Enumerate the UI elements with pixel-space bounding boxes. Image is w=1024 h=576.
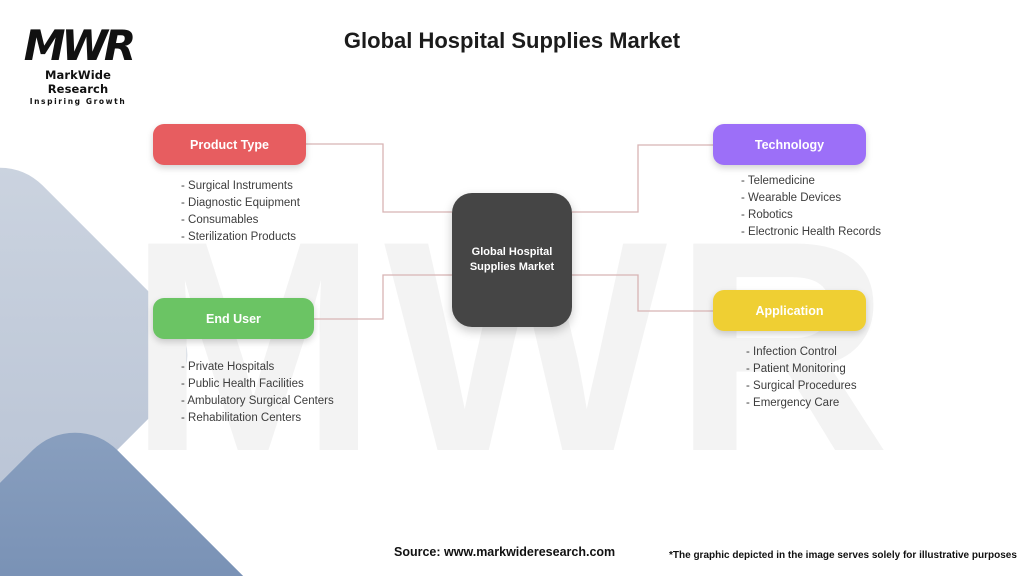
list-end-user: - Private Hospitals - Public Health Faci… [181, 359, 334, 427]
list-item: - Telemedicine [741, 173, 881, 190]
list-item: - Infection Control [746, 344, 857, 361]
list-item: - Private Hospitals [181, 359, 334, 376]
infographic-canvas: MWR MWR MarkWide Research Inspiring Grow… [0, 0, 1024, 576]
logo-company-name: MarkWide Research [18, 68, 138, 96]
list-technology: - Telemedicine - Wearable Devices - Robo… [741, 173, 881, 241]
connector-application [572, 275, 713, 311]
list-item: - Robotics [741, 207, 881, 224]
node-end-user[interactable]: End User [153, 298, 314, 339]
node-technology-label: Technology [755, 138, 824, 152]
node-product-type[interactable]: Product Type [153, 124, 306, 165]
center-node-line1: Global Hospital [472, 246, 553, 258]
list-item: - Rehabilitation Centers [181, 410, 334, 427]
connector-end-user [314, 275, 452, 319]
center-node[interactable]: Global Hospital Supplies Market [452, 193, 572, 327]
list-item: - Public Health Facilities [181, 376, 334, 393]
list-item: - Ambulatory Surgical Centers [181, 393, 334, 410]
logo-tagline: Inspiring Growth [18, 97, 138, 106]
node-technology[interactable]: Technology [713, 124, 866, 165]
node-application[interactable]: Application [713, 290, 866, 331]
node-end-user-label: End User [206, 312, 261, 326]
connector-product-type [306, 144, 452, 212]
list-product-type: - Surgical Instruments - Diagnostic Equi… [181, 178, 300, 246]
list-application: - Infection Control - Patient Monitoring… [746, 344, 857, 412]
center-node-label: Global Hospital Supplies Market [470, 245, 554, 275]
node-application-label: Application [755, 304, 823, 318]
list-item: - Patient Monitoring [746, 361, 857, 378]
list-item: - Diagnostic Equipment [181, 195, 300, 212]
list-item: - Wearable Devices [741, 190, 881, 207]
list-item: - Electronic Health Records [741, 224, 881, 241]
list-item: - Consumables [181, 212, 300, 229]
list-item: - Surgical Procedures [746, 378, 857, 395]
footer-disclaimer: *The graphic depicted in the image serve… [669, 550, 1017, 561]
list-item: - Sterilization Products [181, 229, 300, 246]
node-product-type-label: Product Type [190, 138, 269, 152]
center-node-line2: Supplies Market [470, 261, 554, 273]
list-item: - Surgical Instruments [181, 178, 300, 195]
footer-source[interactable]: Source: www.markwideresearch.com [394, 545, 615, 559]
page-title: Global Hospital Supplies Market [0, 28, 1024, 54]
connector-technology [572, 145, 713, 212]
list-item: - Emergency Care [746, 395, 857, 412]
